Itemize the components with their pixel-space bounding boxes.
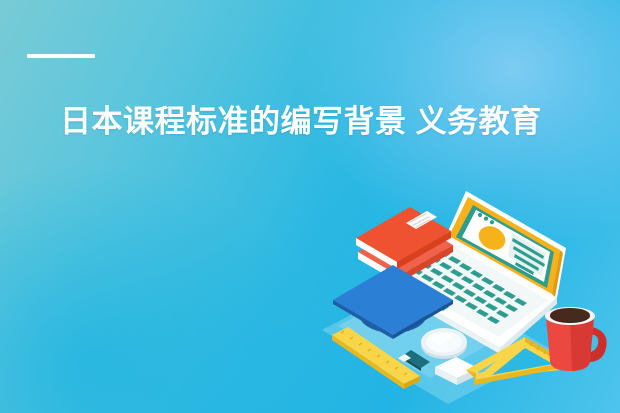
education-illustration xyxy=(320,180,620,413)
background-tint-bottom-left xyxy=(0,163,320,413)
decorative-rule xyxy=(27,54,95,58)
coffee-mug-icon xyxy=(545,307,607,371)
page-title: 日本课程标准的编写背景 义务教育 xyxy=(60,103,560,141)
banner-image: 日本课程标准的编写背景 义务教育 xyxy=(0,0,620,413)
